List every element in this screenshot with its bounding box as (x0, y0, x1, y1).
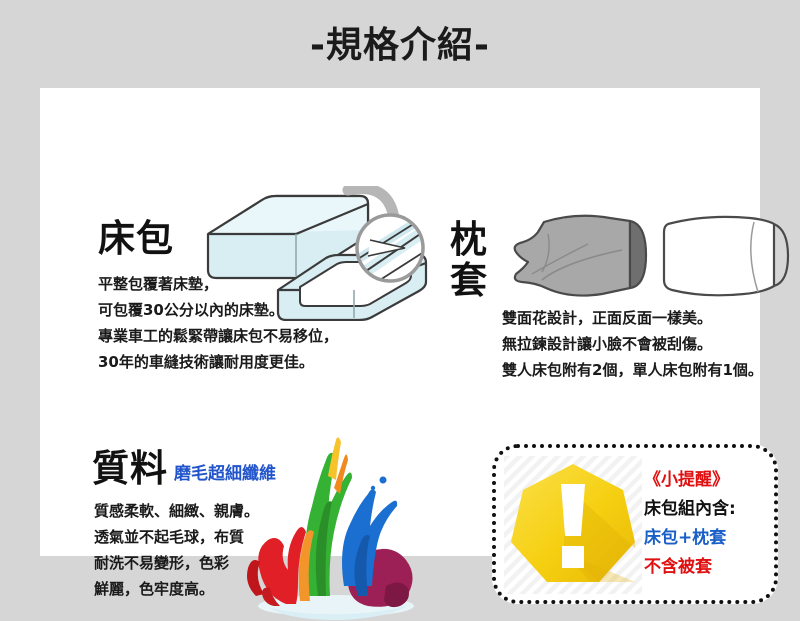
reminder-title: 《小提醒》 (644, 466, 772, 495)
pillow-case-heading: 枕 套 (450, 219, 496, 301)
material-line-3: 耐洗不易變形，色彩 (94, 550, 259, 576)
material-line-2: 透氣並不起毛球，布質 (94, 524, 259, 550)
reminder-text-group: 《小提醒》 床包組內含: 床包+枕套 不含被套 (644, 466, 772, 582)
bed-sheet-line-3: 專業車工的鬆緊帶讓床包不易移位， (98, 323, 338, 349)
pillow-case-line-1: 雙面花設計，正面反面一樣美。 (502, 305, 763, 331)
reminder-include-label: 床包組內含: (644, 495, 772, 524)
material-line-4: 鮮麗，色牢度高。 (94, 576, 259, 602)
material-description: 質感柔軟、細緻、親膚。 透氣並不起毛球，布質 耐洗不易變形，色彩 鮮麗，色牢度高… (94, 498, 259, 602)
colorful-paint-splash-icon (240, 436, 425, 621)
material-line-1: 質感柔軟、細緻、親膚。 (94, 498, 259, 524)
pillow-case-line-3: 雙人床包附有2個，單人床包附有1個。 (502, 357, 763, 383)
material-heading: 質料 (92, 448, 168, 490)
content-card: 床包 平整包覆著床墊， 可包覆30公分以內的床墊。 專業車工的鬆緊帶讓床包不易移… (40, 88, 760, 556)
warning-exclamation-icon (504, 456, 642, 594)
page-title: -規格介紹- (0, 24, 800, 68)
bed-sheet-line-4: 30年的車縫技術讓耐用度更佳。 (98, 349, 338, 375)
reminder-box: 《小提醒》 床包組內含: 床包+枕套 不含被套 (492, 444, 778, 604)
pillow-case-heading-line-2: 套 (450, 260, 496, 301)
section-bed-sheet: 床包 平整包覆著床墊， 可包覆30公分以內的床墊。 專業車工的鬆緊帶讓床包不易移… (98, 218, 174, 260)
reminder-include-items: 床包+枕套 (644, 524, 772, 553)
section-pillow-case: 枕 套 雙面花設計，正面反面一樣美。 無拉鍊設計讓小臉不會被刮傷。 雙人床包附有… (450, 219, 496, 301)
bed-sheet-heading: 床包 (98, 218, 174, 260)
reminder-exclude-note: 不含被套 (644, 553, 772, 582)
two-pillows-icon (506, 210, 796, 302)
pillow-case-description: 雙面花設計，正面反面一樣美。 無拉鍊設計讓小臉不會被刮傷。 雙人床包附有2個，單… (502, 305, 763, 383)
pillow-case-line-2: 無拉鍊設計讓小臉不會被刮傷。 (502, 331, 763, 357)
mattress-fitted-sheet-icon (200, 186, 440, 321)
pillow-case-heading-line-1: 枕 (450, 219, 496, 260)
